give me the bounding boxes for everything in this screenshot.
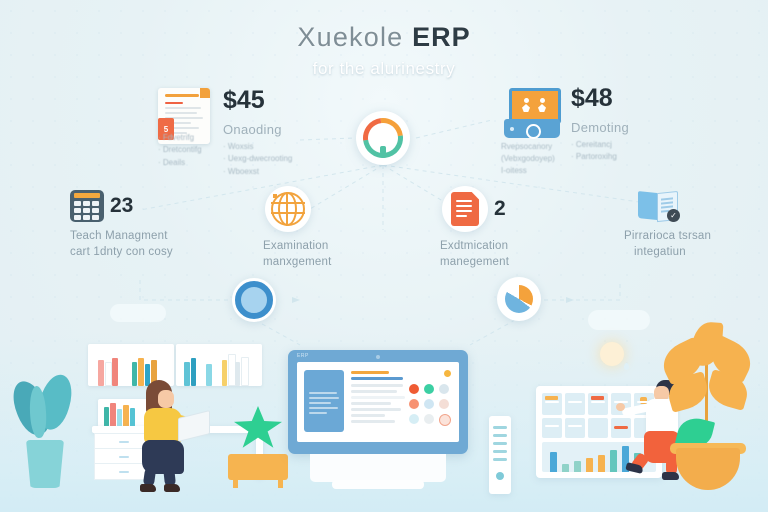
price-card-left-body: $45 Onaoding Woxsis Uexg-dwecrooting Wbo… [223, 86, 292, 194]
screen-text-line [351, 420, 395, 423]
bullet-item: Partoroxihg [571, 151, 629, 163]
bullet-item: Woxsis [223, 141, 292, 153]
price-card-heading: Onaoding [223, 122, 292, 137]
document-corner [200, 88, 210, 98]
feature-teach-management[interactable]: 23 Teach Managment cart 1dnty con cosy [70, 190, 173, 260]
globe-icon [271, 192, 305, 226]
feature-examination-management[interactable]: Examination manxgement [265, 186, 331, 270]
monitor-screen[interactable] [297, 362, 459, 442]
chart-bar [610, 450, 617, 472]
feature-label: Pirrarioca tsrsan integatiun [624, 229, 711, 260]
laptop-trackpad [526, 124, 541, 139]
board-card[interactable] [565, 418, 585, 438]
screen-subtitle-bar [351, 377, 403, 380]
page-title: Xuekole ERP [0, 22, 768, 53]
screen-title-bar [351, 371, 389, 374]
table-leg [278, 478, 283, 488]
person-glyph [538, 98, 546, 112]
feature-icon-row [265, 186, 331, 232]
pendant-lamp [600, 342, 624, 366]
erp-hub-icon[interactable] [356, 111, 410, 165]
chart-bar [574, 461, 581, 472]
person-glyph [522, 98, 530, 112]
feature-label-line2: manxgement [263, 255, 331, 271]
monitor-camera [376, 355, 380, 359]
grid-icon[interactable] [439, 384, 449, 394]
bullet-item: Dretcontifg [158, 144, 202, 156]
feature-label: Examination manxgement [263, 239, 331, 270]
feature-finance-integration[interactable]: ✓ Pirrarioca tsrsan integatiun [638, 190, 711, 260]
feature-icon-row: 23 [70, 190, 173, 222]
bullet-item: Cereitancj [571, 139, 629, 151]
laptop-thumbnail [500, 84, 562, 146]
server-tower[interactable] [489, 416, 511, 494]
monitor-bezel: ERP [288, 350, 468, 454]
document-icon [451, 192, 479, 226]
feature-label-line1: Pirrarioca tsrsan [624, 229, 711, 245]
grid-icon[interactable] [439, 414, 451, 426]
feature-label-line2: cart 1dnty con cosy [70, 245, 173, 261]
sidebar-panel[interactable] [304, 370, 344, 432]
screen-text-line [351, 408, 401, 411]
grid-icon[interactable] [409, 414, 419, 424]
star-plant-table [228, 406, 288, 480]
document-line [165, 107, 201, 109]
woman-at-desk [122, 380, 200, 492]
screen-text-line [351, 414, 385, 417]
blue-ring-icon[interactable] [232, 278, 276, 322]
calculator-icon [70, 190, 104, 222]
chart-bar [598, 455, 605, 472]
board-card[interactable] [542, 393, 562, 415]
person-shoe [140, 484, 156, 492]
feature-icon-disc [442, 186, 488, 232]
grid-icon[interactable] [424, 399, 434, 409]
laptop-led [510, 127, 514, 131]
price-card-right-body: $48 Demoting Cereitancj Partoroxihg [571, 84, 629, 180]
monitor-stand [310, 454, 446, 482]
hub-ring-graphic [355, 110, 411, 166]
screen-text-line [351, 396, 405, 399]
document-line [165, 102, 183, 104]
price-value: $45 [223, 88, 292, 113]
feature-label: Exdtmication manegement [440, 239, 509, 270]
desktop-monitor[interactable]: ERP [288, 350, 468, 490]
plant-pot [26, 440, 64, 488]
page-title-block: Xuekole ERP for the alurinestry [0, 22, 768, 79]
bullet-item: Wboexst [223, 166, 292, 178]
teal-leaf-plant [14, 368, 76, 488]
orange-plant [658, 322, 754, 490]
board-card[interactable] [611, 418, 631, 438]
document-line [165, 112, 197, 114]
check-badge-icon: ✓ [667, 209, 680, 222]
title-accent: ERP [412, 22, 471, 52]
price-card-right-bullets: Cereitancj Partoroxihg [571, 139, 629, 164]
feature-label-line1: Examination [263, 239, 331, 255]
feature-label-line1: Teach Managment [70, 229, 173, 245]
screen-text-line [351, 390, 397, 393]
feature-label-line2: manegement [440, 255, 509, 271]
water-drop-icon [624, 363, 629, 370]
feature-label-line1: Exdtmication [440, 239, 509, 255]
feature-icon-disc [265, 186, 311, 232]
price-card-heading: Demoting [571, 120, 629, 135]
screen-text-line [351, 402, 391, 405]
page-subtitle: for the alurinestry [0, 59, 768, 79]
book-check-icon: ✓ [638, 190, 678, 222]
board-card[interactable] [588, 418, 608, 438]
monitor-foot [332, 480, 424, 489]
server-power-icon[interactable] [496, 472, 504, 480]
grid-icon[interactable] [409, 384, 419, 394]
blue-ring-graphic [235, 281, 273, 319]
cloud-shape [588, 310, 650, 330]
feature-icon-row: ✓ [638, 190, 711, 222]
book-left-page [638, 191, 657, 220]
feature-count: 23 [110, 194, 133, 218]
grid-icon[interactable] [439, 399, 449, 409]
feature-label-line2: integatiun [634, 245, 711, 261]
price-card-right-subnote: Rvepsocanory (Vebxgodoyep) I-oitess [501, 141, 561, 177]
board-card[interactable] [565, 393, 585, 415]
price-card-right-bullets: Woxsis Uexg-dwecrooting Wboexst [223, 141, 292, 178]
grid-icon[interactable] [409, 399, 419, 409]
price-card-left-bullets: Fdvetrifg Dretcontifg Deails [158, 132, 202, 169]
grid-icon[interactable] [424, 384, 434, 394]
orange-table [228, 454, 288, 480]
feature-exdtmication-management[interactable]: 2 Exdtmication manegement [442, 186, 509, 270]
grid-icon[interactable] [424, 414, 434, 424]
pie-chart-graphic [505, 285, 533, 313]
feature-icon-row: 2 [442, 186, 509, 232]
infographic-canvas: Xuekole ERP for the alurinestry 5 $45 On… [0, 0, 768, 512]
price-value: $48 [571, 86, 629, 111]
hub-foot-graphic [380, 146, 386, 154]
bullet-item: Fdvetrifg [158, 132, 202, 144]
cloud-shape [110, 304, 166, 322]
screen-text-line [351, 384, 403, 387]
chart-bar [586, 458, 593, 472]
person-shoe [164, 484, 180, 492]
feature-count: 2 [494, 197, 506, 221]
person-hand [616, 403, 625, 411]
bullet-item: Uexg-dwecrooting [223, 153, 292, 165]
chart-bar [550, 452, 557, 472]
table-leg [233, 478, 238, 488]
title-light: Xuekole [297, 22, 403, 52]
laptop-graphic [504, 88, 560, 140]
plant-pot [676, 448, 740, 490]
feature-label: Teach Managment cart 1dnty con cosy [70, 229, 173, 260]
bell-icon[interactable] [444, 370, 451, 377]
board-card[interactable] [542, 418, 562, 438]
pie-chart-icon[interactable] [497, 277, 541, 321]
chart-bar [562, 464, 569, 472]
monitor-brand-label: ERP [297, 353, 309, 359]
document-title-bar [165, 94, 199, 97]
board-card[interactable] [588, 393, 608, 415]
bullet-item: Deails [158, 157, 202, 169]
star-plant-leaf [234, 406, 282, 450]
person-face [158, 390, 174, 408]
